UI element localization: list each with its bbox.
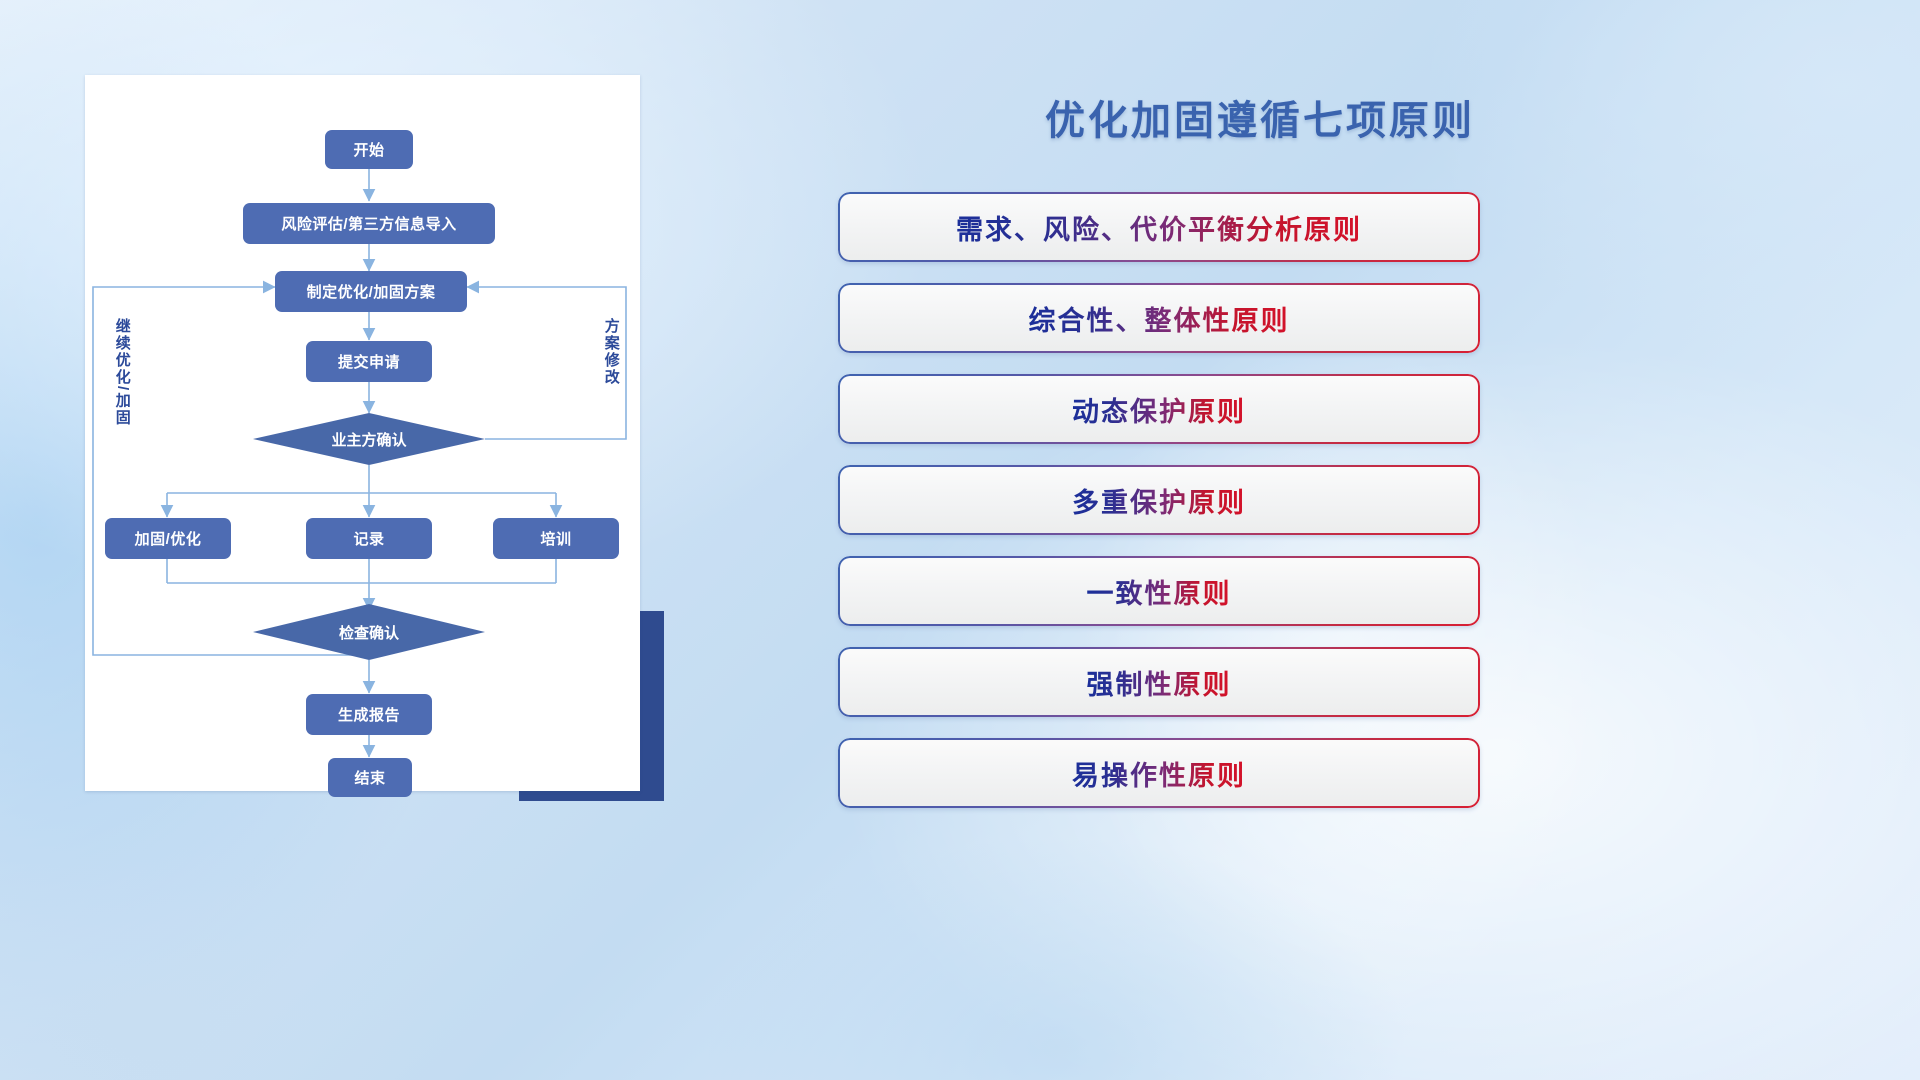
principle-item[interactable]: 需求、风险、代价平衡分析原则 bbox=[838, 192, 1480, 262]
flow-node-label: 结束 bbox=[354, 767, 385, 788]
flow-node-training[interactable]: 培训 bbox=[493, 518, 619, 559]
flow-node-submit-application[interactable]: 提交申请 bbox=[306, 341, 432, 382]
principle-item[interactable]: 综合性、整体性原则 bbox=[838, 283, 1480, 353]
principle-label: 多重保护原则 bbox=[1072, 481, 1246, 520]
flow-node-label: 风险评估/第三方信息导入 bbox=[281, 213, 456, 234]
flow-node-label: 培训 bbox=[540, 528, 571, 549]
flow-node-end[interactable]: 结束 bbox=[328, 758, 412, 797]
flow-node-label: 开始 bbox=[353, 139, 384, 160]
principle-item[interactable]: 易操作性原则 bbox=[838, 738, 1480, 808]
principle-label: 综合性、整体性原则 bbox=[1029, 299, 1290, 338]
flow-node-label: 加固/优化 bbox=[135, 528, 202, 549]
flow-node-label: 提交申请 bbox=[338, 351, 400, 372]
flow-node-label: 制定优化/加固方案 bbox=[307, 281, 436, 302]
flow-node-risk-assessment[interactable]: 风险评估/第三方信息导入 bbox=[243, 203, 495, 244]
flow-node-record[interactable]: 记录 bbox=[306, 518, 432, 559]
principle-label: 易操作性原则 bbox=[1072, 754, 1246, 793]
flow-node-generate-report[interactable]: 生成报告 bbox=[306, 694, 432, 735]
flow-node-label: 检查确认 bbox=[339, 622, 399, 643]
principles-list: 需求、风险、代价平衡分析原则 综合性、整体性原则 动态保护原则 多重保护原则 一… bbox=[838, 192, 1480, 829]
flow-node-make-plan[interactable]: 制定优化/加固方案 bbox=[275, 271, 467, 312]
principle-item[interactable]: 一致性原则 bbox=[838, 556, 1480, 626]
flow-node-start[interactable]: 开始 bbox=[325, 130, 413, 169]
flow-node-label: 记录 bbox=[353, 528, 384, 549]
principle-label: 动态保护原则 bbox=[1072, 390, 1246, 429]
flow-edge-label-plan-revision: 方案修改 bbox=[603, 318, 619, 468]
principles-title: 优化加固遵循七项原则 bbox=[940, 88, 1580, 146]
flow-node-reinforce-optimize[interactable]: 加固/优化 bbox=[105, 518, 231, 559]
principle-item[interactable]: 强制性原则 bbox=[838, 647, 1480, 717]
flow-node-inspection-confirmation[interactable]: 检查确认 bbox=[253, 604, 485, 660]
principle-item[interactable]: 动态保护原则 bbox=[838, 374, 1480, 444]
principle-label: 一致性原则 bbox=[1087, 572, 1232, 611]
principle-label: 需求、风险、代价平衡分析原则 bbox=[956, 208, 1362, 247]
flow-node-label: 业主方确认 bbox=[331, 429, 406, 450]
flowchart-card: 开始 风险评估/第三方信息导入 制定优化/加固方案 提交申请 业主方确认 加固/… bbox=[85, 75, 640, 791]
flow-node-label: 生成报告 bbox=[338, 704, 400, 725]
flow-edge-label-continue-optimize: 继续优化/加固 bbox=[114, 318, 130, 518]
flow-node-owner-confirmation[interactable]: 业主方确认 bbox=[253, 413, 485, 465]
principle-label: 强制性原则 bbox=[1087, 663, 1232, 702]
principle-item[interactable]: 多重保护原则 bbox=[838, 465, 1480, 535]
